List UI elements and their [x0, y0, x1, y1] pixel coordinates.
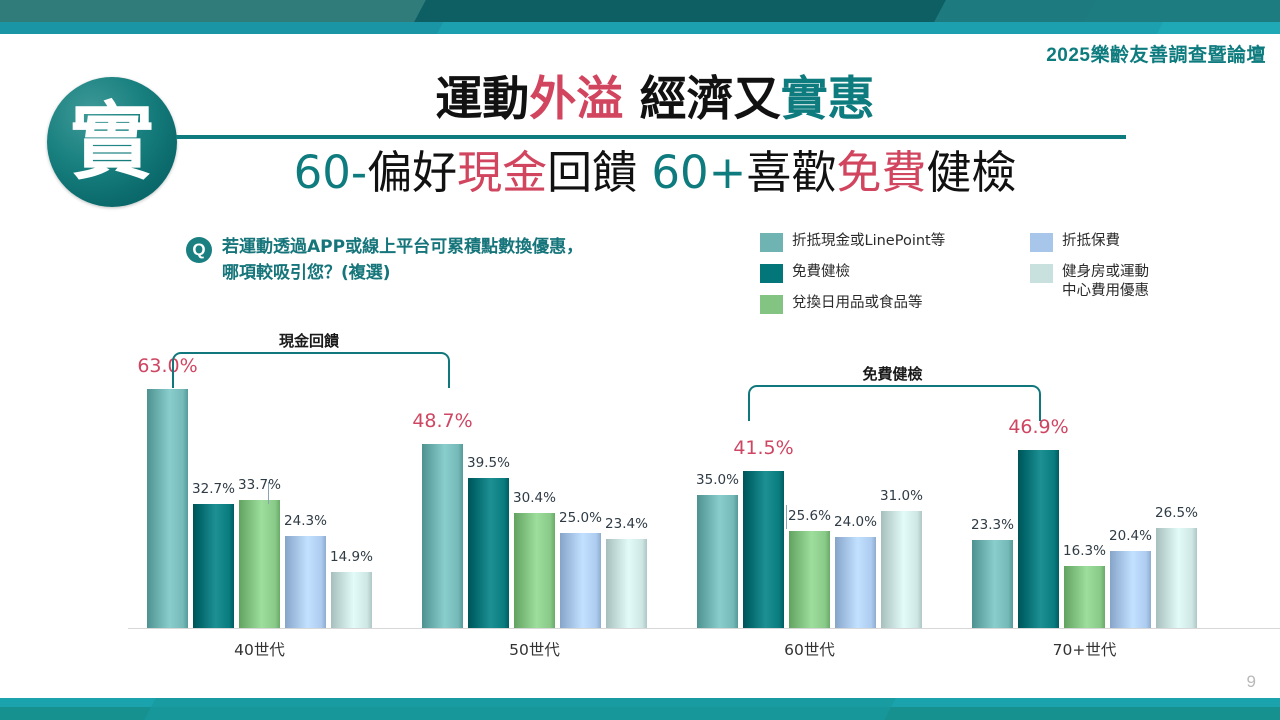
bar-body — [147, 389, 188, 628]
legend-label: 折抵保費 — [1062, 232, 1120, 251]
bar-body — [285, 536, 326, 628]
bar-body — [1018, 450, 1059, 628]
legend-item-b-1[interactable]: 健身房或運動中心費用優惠 — [1030, 263, 1270, 301]
legend-item-b-0[interactable]: 折抵保費 — [1030, 232, 1270, 252]
legend-swatch-icon — [760, 264, 783, 283]
title-run-4: 60+ — [651, 146, 746, 199]
question-mark-icon: Q — [186, 237, 212, 263]
bar-value-label: 48.7% — [412, 410, 472, 432]
title-run-0: 運動 — [435, 72, 529, 127]
bar-body — [514, 513, 555, 628]
title-run-5: 喜歡 — [746, 146, 836, 199]
legend-label-line-0: 健身房或運動 — [1062, 263, 1149, 282]
legend-label: 健身房或運動中心費用優惠 — [1062, 263, 1149, 301]
chapter-badge: 實 — [47, 77, 177, 207]
bottom-diagonal — [142, 698, 898, 720]
top-banner — [0, 0, 1280, 34]
value-label-leader-line-0 — [268, 482, 269, 504]
title-run-7: 健檢 — [926, 146, 1016, 199]
bar-body — [422, 444, 463, 628]
legend-label-line-0: 兌換日用品或食品等 — [792, 294, 923, 313]
legend-label-line-1: 中心費用優惠 — [1062, 282, 1149, 301]
bar-value-label: 33.7% — [238, 477, 281, 493]
banner-lower-diagonal-1 — [0, 22, 443, 34]
bar-body — [972, 540, 1013, 628]
x-axis-group-label: 50世代 — [435, 638, 635, 660]
title-run-3: 回饋 — [547, 146, 651, 199]
bar-value-label: 25.6% — [788, 508, 831, 524]
bar-value-label: 14.9% — [330, 549, 373, 565]
title-run-2: 現金 — [457, 146, 547, 199]
bar-value-label: 26.5% — [1155, 505, 1198, 521]
bar-body — [560, 533, 601, 628]
legend-item-a-1[interactable]: 免費健檢 — [760, 263, 1020, 283]
x-axis-group-label: 70+世代 — [985, 638, 1185, 660]
bar-value-label: 39.5% — [467, 455, 510, 471]
legend-swatch-icon — [760, 295, 783, 314]
event-brand-title: 2025樂齡友善調查暨論壇 — [1046, 40, 1266, 67]
legend-label-line-0: 折抵保費 — [1062, 232, 1120, 251]
question-text: 若運動透過APP或線上平台可累積點數換優惠， 哪項較吸引您？(複選) — [222, 234, 756, 287]
page-title-line2: 60-偏好現金回饋 60+喜歡免費健檢 — [180, 147, 1130, 199]
annotation-bracket-1 — [748, 385, 1041, 421]
bar-body — [468, 478, 509, 628]
legend-label: 折抵現金或LinePoint等 — [792, 232, 945, 251]
title-run-1: 外溢 — [529, 72, 623, 127]
legend-label-line-0: 折抵現金或LinePoint等 — [792, 232, 945, 251]
title-run-1: 偏好 — [367, 146, 457, 199]
bar-body — [743, 471, 784, 628]
legend-swatch-icon — [1030, 233, 1053, 252]
legend-swatch-icon — [760, 233, 783, 252]
title-run-2: 經濟又 — [623, 72, 780, 127]
bar-body — [697, 495, 738, 628]
bar-value-label: 41.5% — [733, 437, 793, 459]
bar-body — [789, 531, 830, 628]
bar-value-label: 25.0% — [559, 510, 602, 526]
annotation-label-1: 免費健檢 — [783, 363, 1003, 384]
bar-value-label: 23.4% — [605, 516, 648, 532]
bar-body — [1110, 551, 1151, 628]
bar-value-label: 24.3% — [284, 513, 327, 529]
chart-baseline — [128, 628, 1280, 629]
legend-item-a-0[interactable]: 折抵現金或LinePoint等 — [760, 232, 1020, 252]
annotation-bracket-0 — [172, 352, 450, 388]
bar-value-label: 32.7% — [192, 481, 235, 497]
value-label-leader-line-1 — [786, 505, 787, 529]
bar-value-label: 31.0% — [880, 488, 923, 504]
bottom-banner — [0, 698, 1280, 720]
legend-label: 免費健檢 — [792, 263, 850, 282]
legend-swatch-icon — [1030, 264, 1053, 283]
bar-body — [606, 539, 647, 628]
bar-body — [239, 500, 280, 628]
bar-value-label: 24.0% — [834, 514, 877, 530]
bar-value-label: 30.4% — [513, 490, 556, 506]
slide-number: 9 — [1247, 672, 1256, 692]
title-run-6: 免費 — [836, 146, 926, 199]
bar-body — [1156, 528, 1197, 628]
question-text-line2: 哪項較吸引您？(複選) — [222, 260, 756, 286]
bar-value-label: 23.3% — [971, 517, 1014, 533]
bar-body — [193, 504, 234, 628]
bar-value-label: 20.4% — [1109, 528, 1152, 544]
question-block: Q 若運動透過APP或線上平台可累積點數換優惠， 哪項較吸引您？(複選) — [186, 234, 756, 287]
title-run-3: 實惠 — [781, 72, 875, 127]
title-run-0: 60- — [294, 146, 368, 199]
bar-value-label: 35.0% — [696, 472, 739, 488]
legend-label-line-0: 免費健檢 — [792, 263, 850, 282]
bar-body — [331, 572, 372, 628]
bar-body — [835, 537, 876, 628]
grouped-bar-chart: 63.0%32.7%33.7%24.3%14.9%40世代48.7%39.5%3… — [0, 330, 1280, 660]
question-text-line1: 若運動透過APP或線上平台可累積點數換優惠， — [222, 234, 756, 260]
title-divider — [176, 135, 1126, 139]
x-axis-group-label: 40世代 — [160, 638, 360, 660]
bar-body — [1064, 566, 1105, 628]
legend-item-a-2[interactable]: 兌換日用品或食品等 — [760, 294, 1020, 314]
bar-value-label: 16.3% — [1063, 543, 1106, 559]
legend-label: 兌換日用品或食品等 — [792, 294, 923, 313]
legend-column-left: 折抵現金或LinePoint等免費健檢兌換日用品或食品等 — [760, 232, 1020, 325]
banner-lower-diagonal-2 — [1157, 22, 1280, 34]
legend-column-right: 折抵保費健身房或運動中心費用優惠 — [1030, 232, 1270, 312]
x-axis-group-label: 60世代 — [710, 638, 910, 660]
page-title-line1: 運動外溢 經濟又實惠 — [180, 74, 1130, 126]
annotation-label-0: 現金回饋 — [199, 330, 419, 351]
chapter-badge-char: 實 — [47, 77, 177, 207]
bar-body — [881, 511, 922, 628]
